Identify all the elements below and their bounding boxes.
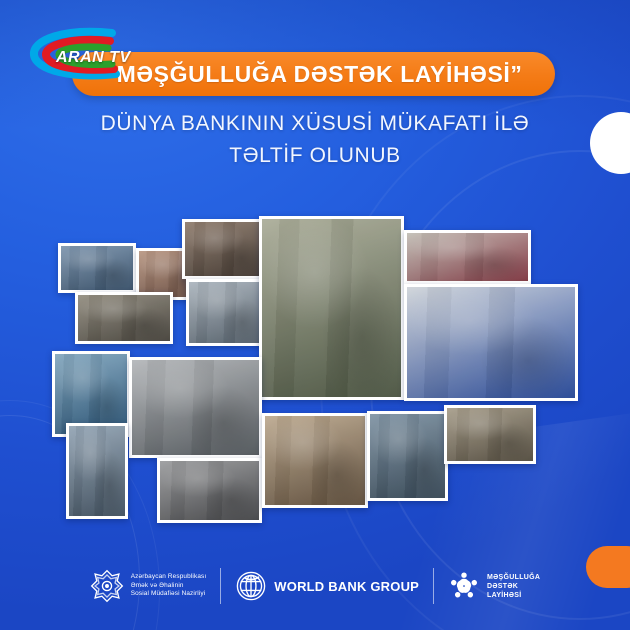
world-bank-logo: WORLD BANK GROUP (235, 570, 419, 602)
ministry-name-line-2: Əmək və Əhalinin (131, 582, 207, 591)
collage-photo-beauty-salon-two-women (182, 219, 266, 279)
collage-photo-image (61, 246, 133, 290)
collage-photo-image (160, 461, 259, 520)
collage-photo-texture (189, 282, 263, 343)
project-name-line-1: MƏŞĞULLUĞA (487, 573, 540, 582)
collage-photo-image (407, 233, 528, 281)
ministry-name-line-3: Sosial Müdafiəsi Nazirliyi (131, 590, 207, 599)
collage-photo-delivered-scooters-on-street (157, 458, 262, 523)
footer-divider-1 (220, 568, 221, 604)
collage-photo-image (265, 416, 365, 505)
footer-divider-2 (433, 568, 434, 604)
subtitle-block: DÜNYA BANKININ XÜSUSİ MÜKAFATI İLƏ TƏLTİ… (0, 108, 630, 172)
world-bank-globe-icon (235, 570, 267, 602)
headline-text: “MƏŞĞULLUĞA DƏSTƏK LAYİHƏSİ” (105, 61, 523, 88)
collage-photo-texture (265, 416, 365, 505)
ministry-name-line-1: Azərbaycan Respublikası (131, 573, 207, 582)
project-name-line-3: LAYİHƏSİ (487, 591, 540, 600)
project-name: MƏŞĞULLUĞA DƏSTƏK LAYİHƏSİ (487, 573, 540, 600)
subtitle-line-2: TƏLTİF OLUNUB (0, 140, 630, 172)
project-name-line-2: DƏSTƏK (487, 582, 540, 591)
collage-photo-woman-in-red-at-craft-bakery (404, 230, 531, 284)
collage-photo-image (55, 354, 127, 434)
subtitle-line-1: DÜNYA BANKININ XÜSUSİ MÜKAFATI İLƏ (0, 108, 630, 140)
ministry-star-emblem-icon (90, 569, 124, 603)
collage-photo-texture (262, 219, 401, 397)
ministry-name: Azərbaycan Respublikası Əmək və Əhalinin… (131, 573, 207, 599)
collage-photo-texture (55, 354, 127, 434)
collage-photo-image (407, 287, 575, 398)
aran-tv-wordmark: ARAN TV (56, 49, 131, 67)
project-people-star-icon (448, 570, 480, 602)
collage-photo-man-in-electronics-repair-shop (75, 292, 173, 344)
collage-photo-image (370, 414, 445, 498)
collage-photo-man-standing-in-workshop (66, 423, 128, 519)
collage-photo-texture (407, 287, 575, 398)
collage-photo-texture (407, 233, 528, 281)
collage-photo-image (78, 295, 170, 341)
collage-photo-texture (132, 360, 259, 455)
collage-photo-beneficiary-receiving-support-indoors (58, 243, 136, 293)
collage-photo-texture (69, 426, 125, 516)
collage-photo-image (132, 360, 259, 455)
world-bank-name: WORLD BANK GROUP (274, 579, 419, 594)
collage-photo-two-men-with-delivered-goods-outdoors (444, 405, 536, 464)
collage-photo-image (189, 282, 263, 343)
collage-photo-two-men-inspecting-equipment-outdoors (259, 216, 404, 400)
collage-photo-woman-with-folded-textiles (186, 279, 266, 346)
collage-photo-woman-in-blue-dress-at-shop-shelves (404, 284, 578, 401)
footer-logo-bar: Azərbaycan Respublikası Əmək və Əhalinin… (0, 568, 630, 604)
collage-photo-texture (185, 222, 263, 276)
collage-photo-image (447, 408, 533, 461)
collage-photo-image (262, 219, 401, 397)
project-logo: MƏŞĞULLUĞA DƏSTƏK LAYİHƏSİ (448, 570, 540, 602)
collage-photo-texture (78, 295, 170, 341)
collage-photo-image (185, 222, 263, 276)
collage-photo-woman-receiving-equipment-delivery (262, 413, 368, 508)
collage-photo-texture (61, 246, 133, 290)
aran-tv-logo: ARAN TV (24, 24, 146, 84)
collage-photo-texture (160, 461, 259, 520)
collage-photo-man-with-tool-case-grant (367, 411, 448, 501)
collage-photo-man-with-certificate-beside-cnc-machine (129, 357, 262, 458)
collage-photo-texture (370, 414, 445, 498)
ministry-logo: Azərbaycan Respublikası Əmək və Əhalinin… (90, 569, 207, 603)
collage-photo-image (69, 426, 125, 516)
collage-photo-texture (447, 408, 533, 461)
